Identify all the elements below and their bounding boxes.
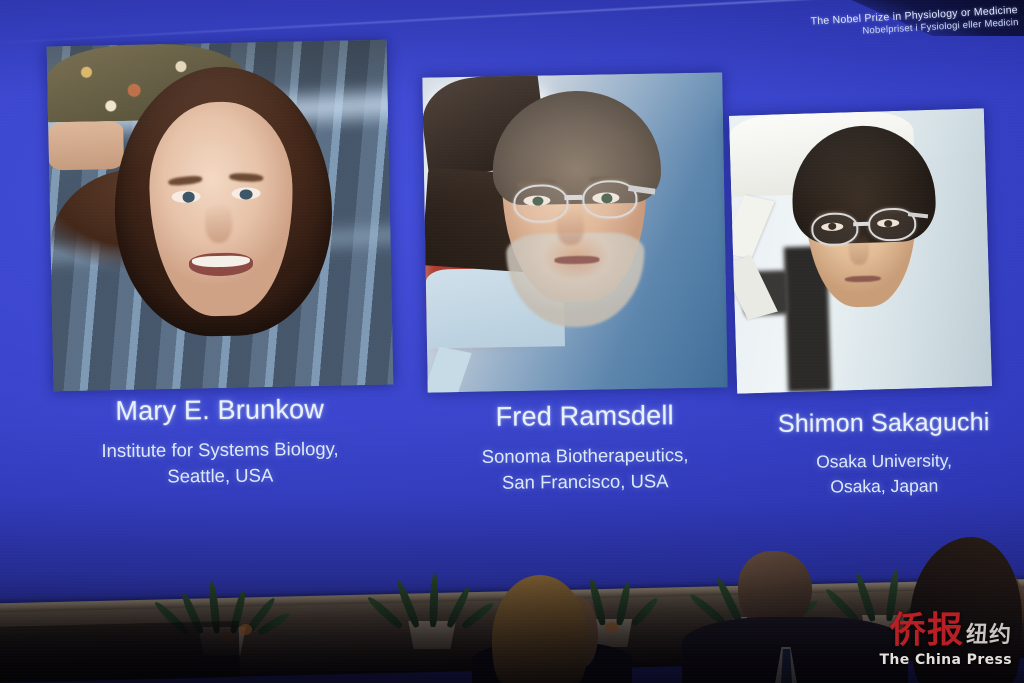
photo-3-collar-right <box>729 256 778 320</box>
photo-2-collar-left <box>422 347 471 393</box>
photo-2-figure <box>422 72 727 392</box>
photo-3-figure <box>729 108 992 393</box>
photo-2-eyeglass-left <box>513 184 569 224</box>
photo-2-eyeglass-bridge <box>564 195 583 201</box>
potted-plant <box>375 575 493 649</box>
audience-woman-dark-hair <box>910 533 1024 683</box>
plant-leaf <box>429 573 439 627</box>
audience-woman-blonde <box>486 571 616 683</box>
audience-man-suit <box>700 555 890 683</box>
photo-1-nose <box>204 201 232 243</box>
laureate-photo-1 <box>47 40 394 392</box>
auditorium-foreground <box>0 523 1024 683</box>
plant-flower <box>239 624 252 635</box>
audience-woman-dark-hair-hair <box>910 537 1022 683</box>
laureate-photo-3 <box>729 108 992 393</box>
photo-1-neck <box>48 121 124 171</box>
photo-1-pupil-right <box>240 189 252 200</box>
audience-man-suit-head <box>738 551 812 627</box>
presentation-screenshot: The Nobel Prize in Physiology or Medicin… <box>0 0 1024 683</box>
photo-2-mouth <box>554 256 599 264</box>
photo-1-figure <box>47 40 394 392</box>
photo-1-pupil-left <box>182 192 194 203</box>
laureate-photo-2 <box>422 72 727 392</box>
plant-leaf <box>630 596 660 628</box>
photo-3-collar-left <box>729 195 774 259</box>
photo-3-eyeglass-bridge <box>853 222 869 227</box>
audience-woman-blonde-hair <box>492 575 588 683</box>
foreground-dark-block-left <box>0 621 240 683</box>
